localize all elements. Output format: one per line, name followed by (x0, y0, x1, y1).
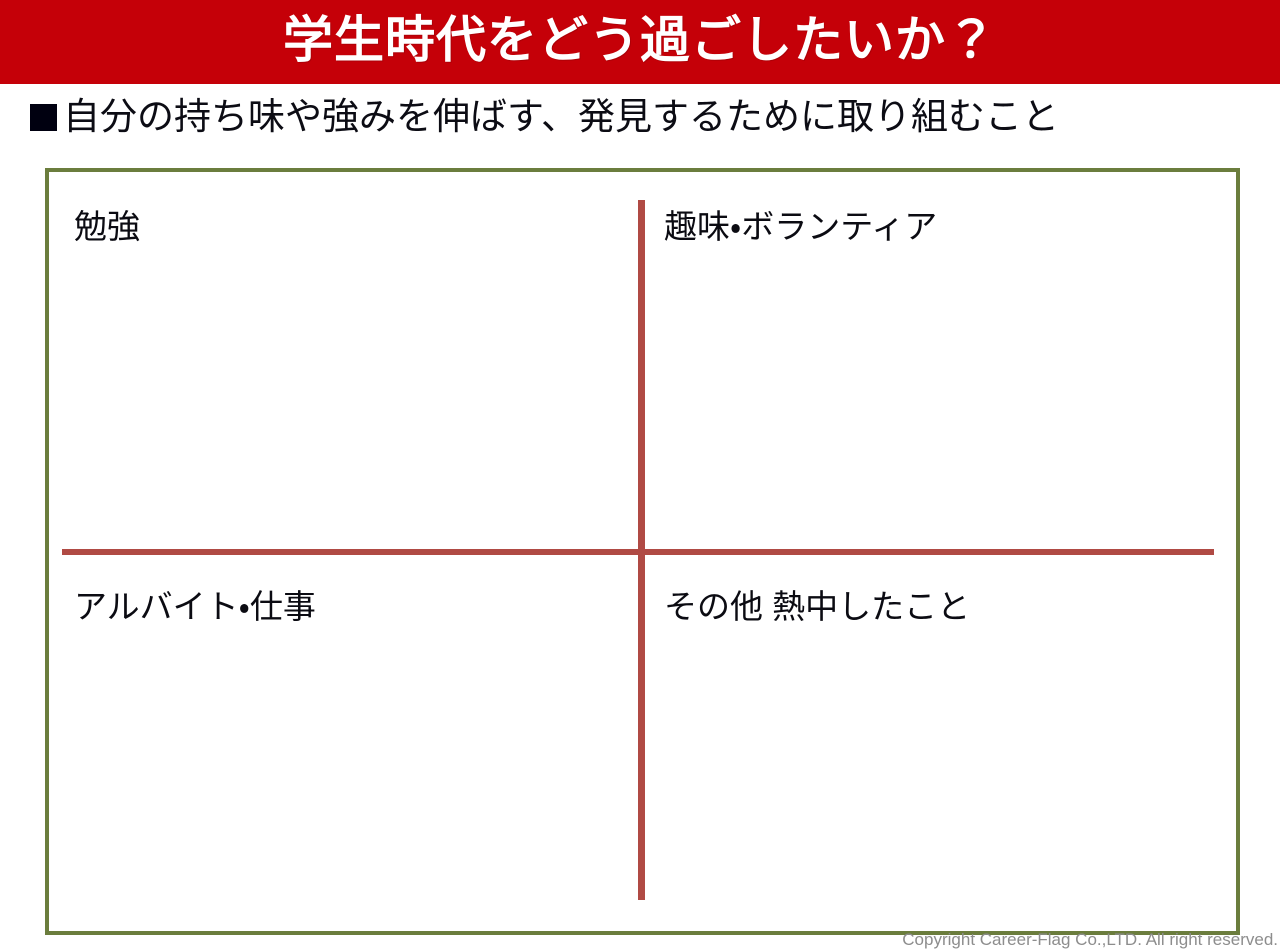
copyright-notice: Copyright Career-Flag Co.,LTD. All right… (902, 930, 1278, 950)
quadrant-notes-other[interactable] (664, 641, 1214, 871)
quadrant-cell-hobby[interactable]: 趣味・ボランティア (664, 207, 1214, 537)
quadrant-cell-other[interactable]: その他 熱中したこと (664, 587, 1214, 917)
quadrant-notes-part-time[interactable] (74, 641, 624, 871)
quadrant-cell-part-time[interactable]: アルバイト・仕事 (74, 587, 624, 917)
quadrant-notes-study[interactable] (74, 261, 624, 491)
filled-square-bullet-icon (30, 104, 57, 131)
horizontal-divider (62, 549, 1214, 555)
quadrant-label-other: その他 熱中したこと (664, 587, 1214, 627)
page-title: 学生時代をどう過ごしたいか？ (283, 15, 997, 65)
slide-canvas: 学生時代をどう過ごしたいか？ 自分の持ち味や強みを伸ばす、発見するために取り組む… (0, 0, 1280, 952)
quadrant-cell-study[interactable]: 勉強 (74, 207, 624, 537)
title-banner: 学生時代をどう過ごしたいか？ (0, 0, 1280, 84)
subtitle-text: 自分の持ち味や強みを伸ばす、発見するために取り組むこと (63, 96, 1059, 137)
quadrant-worksheet: 勉強 趣味・ボランティア アルバイト・仕事 その他 熱中したこと (45, 168, 1240, 935)
quadrant-label-study: 勉強 (74, 207, 624, 247)
quadrant-notes-hobby[interactable] (664, 261, 1214, 491)
quadrant-label-part-time: アルバイト・仕事 (74, 587, 624, 627)
quadrant-label-hobby: 趣味・ボランティア (664, 207, 1214, 247)
subtitle-line: 自分の持ち味や強みを伸ばす、発見するために取り組むこと (30, 97, 1059, 138)
